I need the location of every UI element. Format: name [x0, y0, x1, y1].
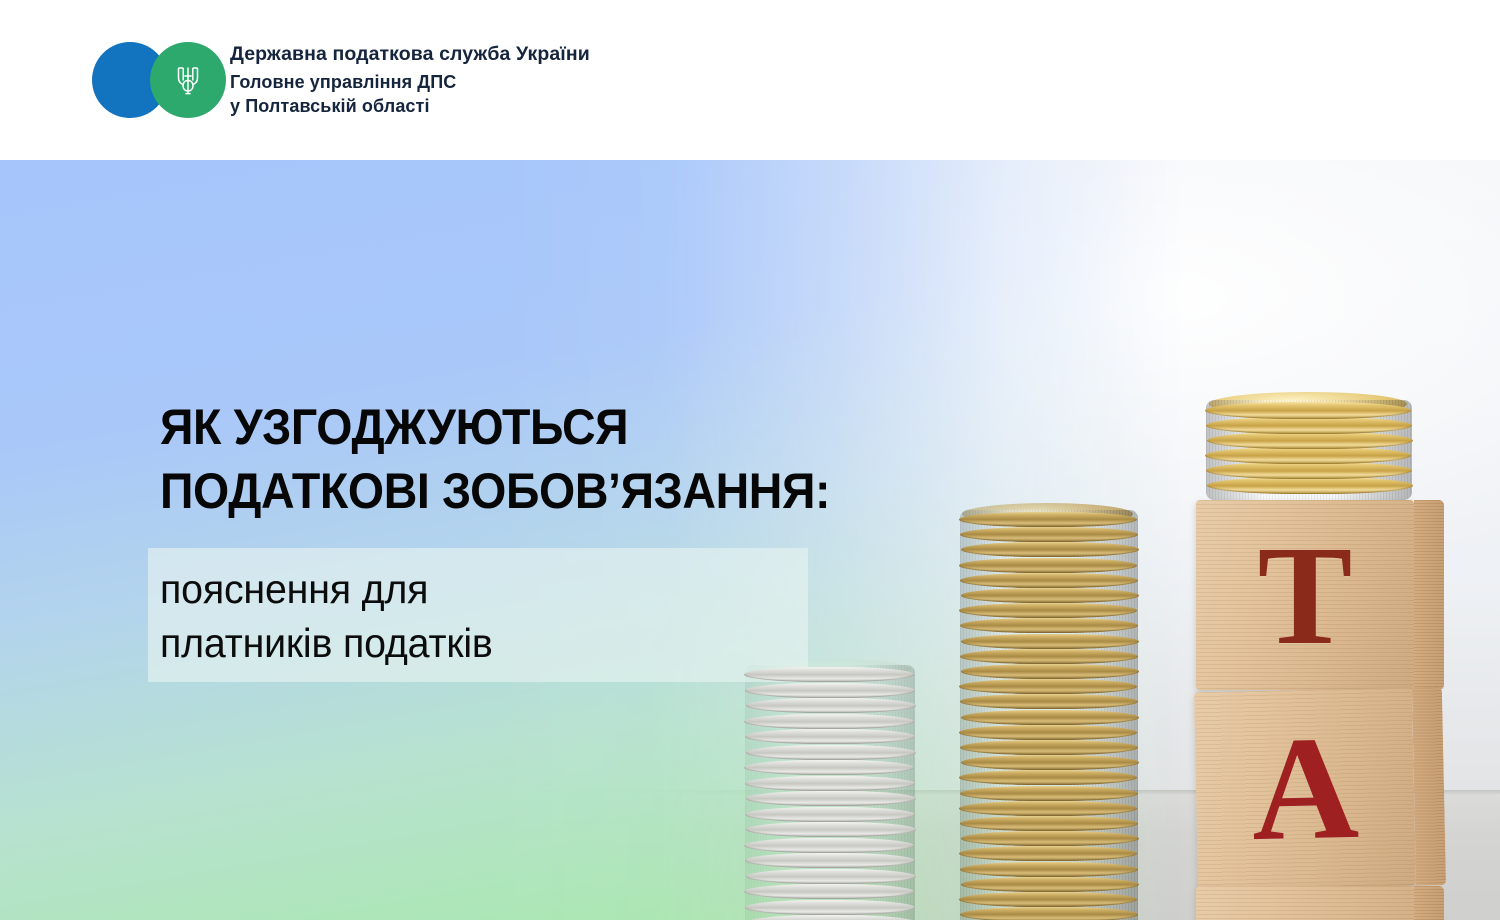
coin-stack-on-blocks [1206, 400, 1412, 500]
site-header: Державна податкова служба України Головн… [0, 0, 1500, 160]
coin [961, 877, 1139, 892]
coin [744, 838, 914, 853]
coin [746, 869, 916, 884]
coin [961, 831, 1139, 846]
logo-mark [92, 40, 222, 120]
org-title-line-2: Головне управління ДПС [230, 71, 590, 95]
coin [959, 512, 1137, 527]
coin [961, 634, 1139, 649]
coin [961, 588, 1139, 603]
coin [959, 558, 1137, 573]
coin [961, 542, 1139, 557]
coin [961, 710, 1139, 725]
ukrainian-trident-icon [173, 60, 203, 100]
coin [960, 573, 1138, 588]
coin [745, 729, 915, 744]
coin [1207, 432, 1413, 449]
coin [959, 801, 1137, 816]
coin [746, 745, 916, 760]
coin [960, 862, 1138, 877]
coin [960, 527, 1138, 542]
org-title-line-1: Державна податкова служба України [230, 42, 590, 66]
coin [961, 755, 1139, 770]
coin [960, 907, 1138, 920]
coin [959, 892, 1137, 907]
coin [960, 649, 1138, 664]
coin [960, 816, 1138, 831]
coin [745, 683, 915, 698]
coin [1206, 462, 1412, 479]
coin [960, 786, 1138, 801]
banner-stage: Державна податкова служба України Головн… [0, 0, 1500, 920]
org-title-line-3: у Полтавській області [230, 95, 590, 119]
coin [744, 760, 914, 775]
coin [1205, 447, 1411, 464]
coin [1207, 477, 1413, 494]
coin [744, 714, 914, 729]
coin [746, 698, 916, 713]
coin [745, 853, 915, 868]
coin [745, 776, 915, 791]
coin [1205, 402, 1411, 419]
coin [960, 694, 1138, 709]
coin [1206, 417, 1412, 434]
coin [745, 807, 915, 822]
coin [959, 725, 1137, 740]
coin-stack-silver [745, 665, 915, 920]
coin [744, 884, 914, 899]
coin [746, 791, 916, 806]
banner-subheadline: пояснення для платників податків [160, 562, 832, 670]
coin [745, 900, 915, 915]
banner-text-zone: ЯК УЗГОДЖУЮТЬСЯ ПОДАТКОВІ ЗОБОВ’ЯЗАННЯ: … [0, 160, 900, 920]
org-name-block: Державна податкова служба України Головн… [230, 42, 590, 119]
coin [746, 822, 916, 837]
green-circle-icon [150, 42, 226, 118]
coin [959, 679, 1137, 694]
coin [959, 603, 1137, 618]
coin [960, 740, 1138, 755]
coin [959, 846, 1137, 861]
coin [744, 667, 914, 682]
coin [961, 664, 1139, 679]
banner-headline: ЯК УЗГОДЖУЮТЬСЯ ПОДАТКОВІ ЗОБОВ’ЯЗАННЯ: [160, 395, 978, 523]
